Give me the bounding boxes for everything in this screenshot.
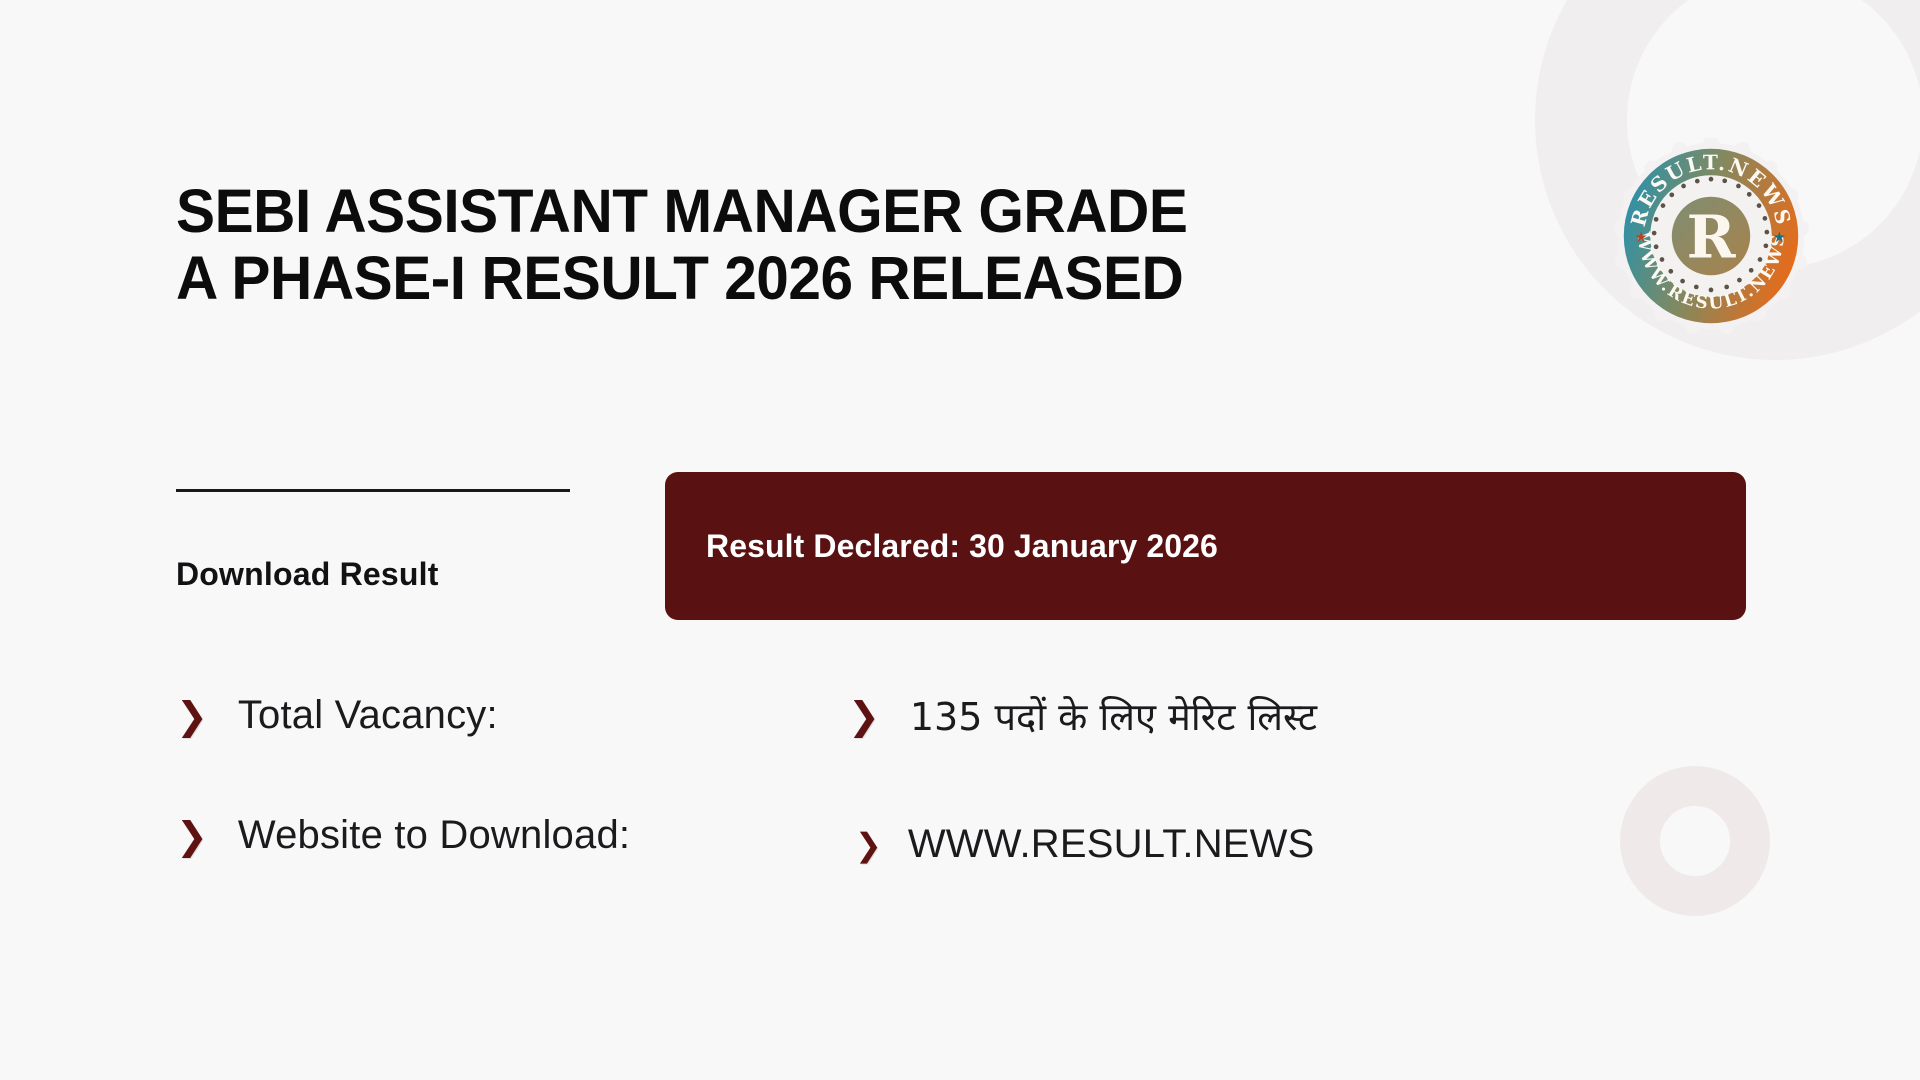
result-news-logo: R RESULT.NEWS WWW.RESULT.NEWS ★ ★ — [1613, 138, 1809, 334]
chevron-right-icon: ❯ — [848, 697, 880, 735]
total-vacancy-label: Total Vacancy: — [238, 693, 498, 738]
result-declared-text: Result Declared: 30 January 2026 — [665, 528, 1218, 565]
svg-text:★: ★ — [1635, 229, 1648, 246]
chevron-right-icon: ❯ — [176, 697, 208, 735]
chevron-right-icon: ❯ — [855, 829, 882, 861]
page-title-line-1: SEBI ASSISTANT MANAGER GRADE — [176, 178, 1453, 245]
download-result-label: Download Result — [176, 556, 439, 593]
fact-row-website-label: ❯ Website to Download: — [176, 813, 630, 858]
website-to-download-label: Website to Download: — [238, 813, 630, 858]
fact-row-total-vacancy-label: ❯ Total Vacancy: — [176, 693, 498, 738]
fact-row-total-vacancy-value: ❯ 135 पदों के लिए मेरिट लिस्ट — [848, 690, 1317, 742]
svg-text:R: R — [1687, 203, 1737, 272]
chevron-right-icon: ❯ — [176, 817, 208, 855]
website-url[interactable]: WWW.RESULT.NEWS — [908, 822, 1315, 867]
section-divider — [176, 489, 570, 492]
poster-canvas: R RESULT.NEWS WWW.RESULT.NEWS ★ ★ SEBI A… — [0, 0, 1920, 1080]
page-title: SEBI ASSISTANT MANAGER GRADE A PHASE-I R… — [176, 178, 1453, 312]
fact-row-website-value[interactable]: ❯ WWW.RESULT.NEWS — [855, 822, 1315, 867]
result-declared-banner: Result Declared: 30 January 2026 — [665, 472, 1746, 620]
page-title-line-2: A PHASE-I RESULT 2026 RELEASED — [176, 245, 1453, 312]
total-vacancy-value: 135 पदों के लिए मेरिट लिस्ट — [910, 690, 1317, 742]
svg-text:★: ★ — [1773, 229, 1786, 246]
decorative-ring-bottom-right — [1620, 766, 1770, 916]
